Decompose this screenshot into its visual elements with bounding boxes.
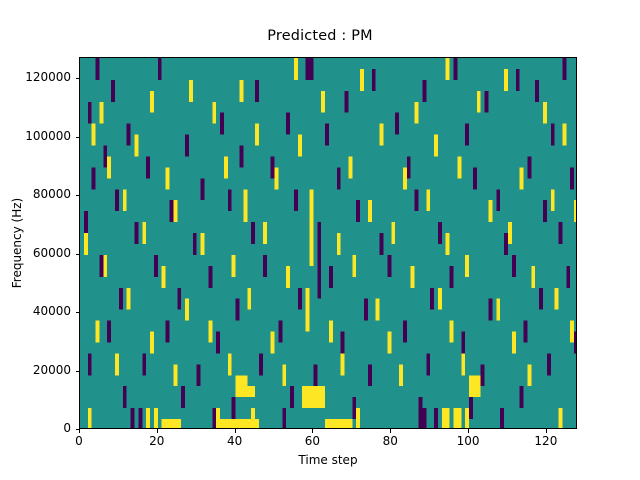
x-tick-mark	[312, 429, 313, 433]
x-tick-mark	[546, 429, 547, 433]
y-tick-mark	[76, 78, 80, 79]
x-tick-label: 20	[127, 434, 187, 448]
y-tick-mark	[76, 371, 80, 372]
y-tick-label: 120000	[0, 70, 71, 84]
y-tick-label: 100000	[0, 129, 71, 143]
x-tick-mark	[79, 429, 80, 433]
chart-title: Predicted : PM	[0, 28, 640, 44]
x-tick-mark	[468, 429, 469, 433]
x-tick-label: 120	[516, 434, 576, 448]
matplotlib-figure: Predicted : PM 0204060801001200200004000…	[0, 0, 640, 480]
y-tick-mark	[76, 195, 80, 196]
x-axis-label: Time step	[79, 453, 577, 467]
x-tick-mark	[157, 429, 158, 433]
y-tick-mark	[76, 312, 80, 313]
heatmap-axes	[79, 57, 577, 429]
y-tick-label: 0	[0, 421, 71, 435]
x-tick-label: 100	[438, 434, 498, 448]
x-tick-label: 40	[205, 434, 265, 448]
x-tick-mark	[235, 429, 236, 433]
x-tick-label: 0	[49, 434, 109, 448]
y-tick-mark	[76, 254, 80, 255]
y-tick-mark	[76, 429, 80, 430]
heatmap-image	[80, 58, 577, 429]
y-axis-label: Frequency (Hz)	[10, 163, 24, 323]
x-tick-mark	[390, 429, 391, 433]
x-tick-label: 60	[282, 434, 342, 448]
y-tick-label: 20000	[0, 363, 71, 377]
y-tick-mark	[76, 137, 80, 138]
x-tick-label: 80	[360, 434, 420, 448]
